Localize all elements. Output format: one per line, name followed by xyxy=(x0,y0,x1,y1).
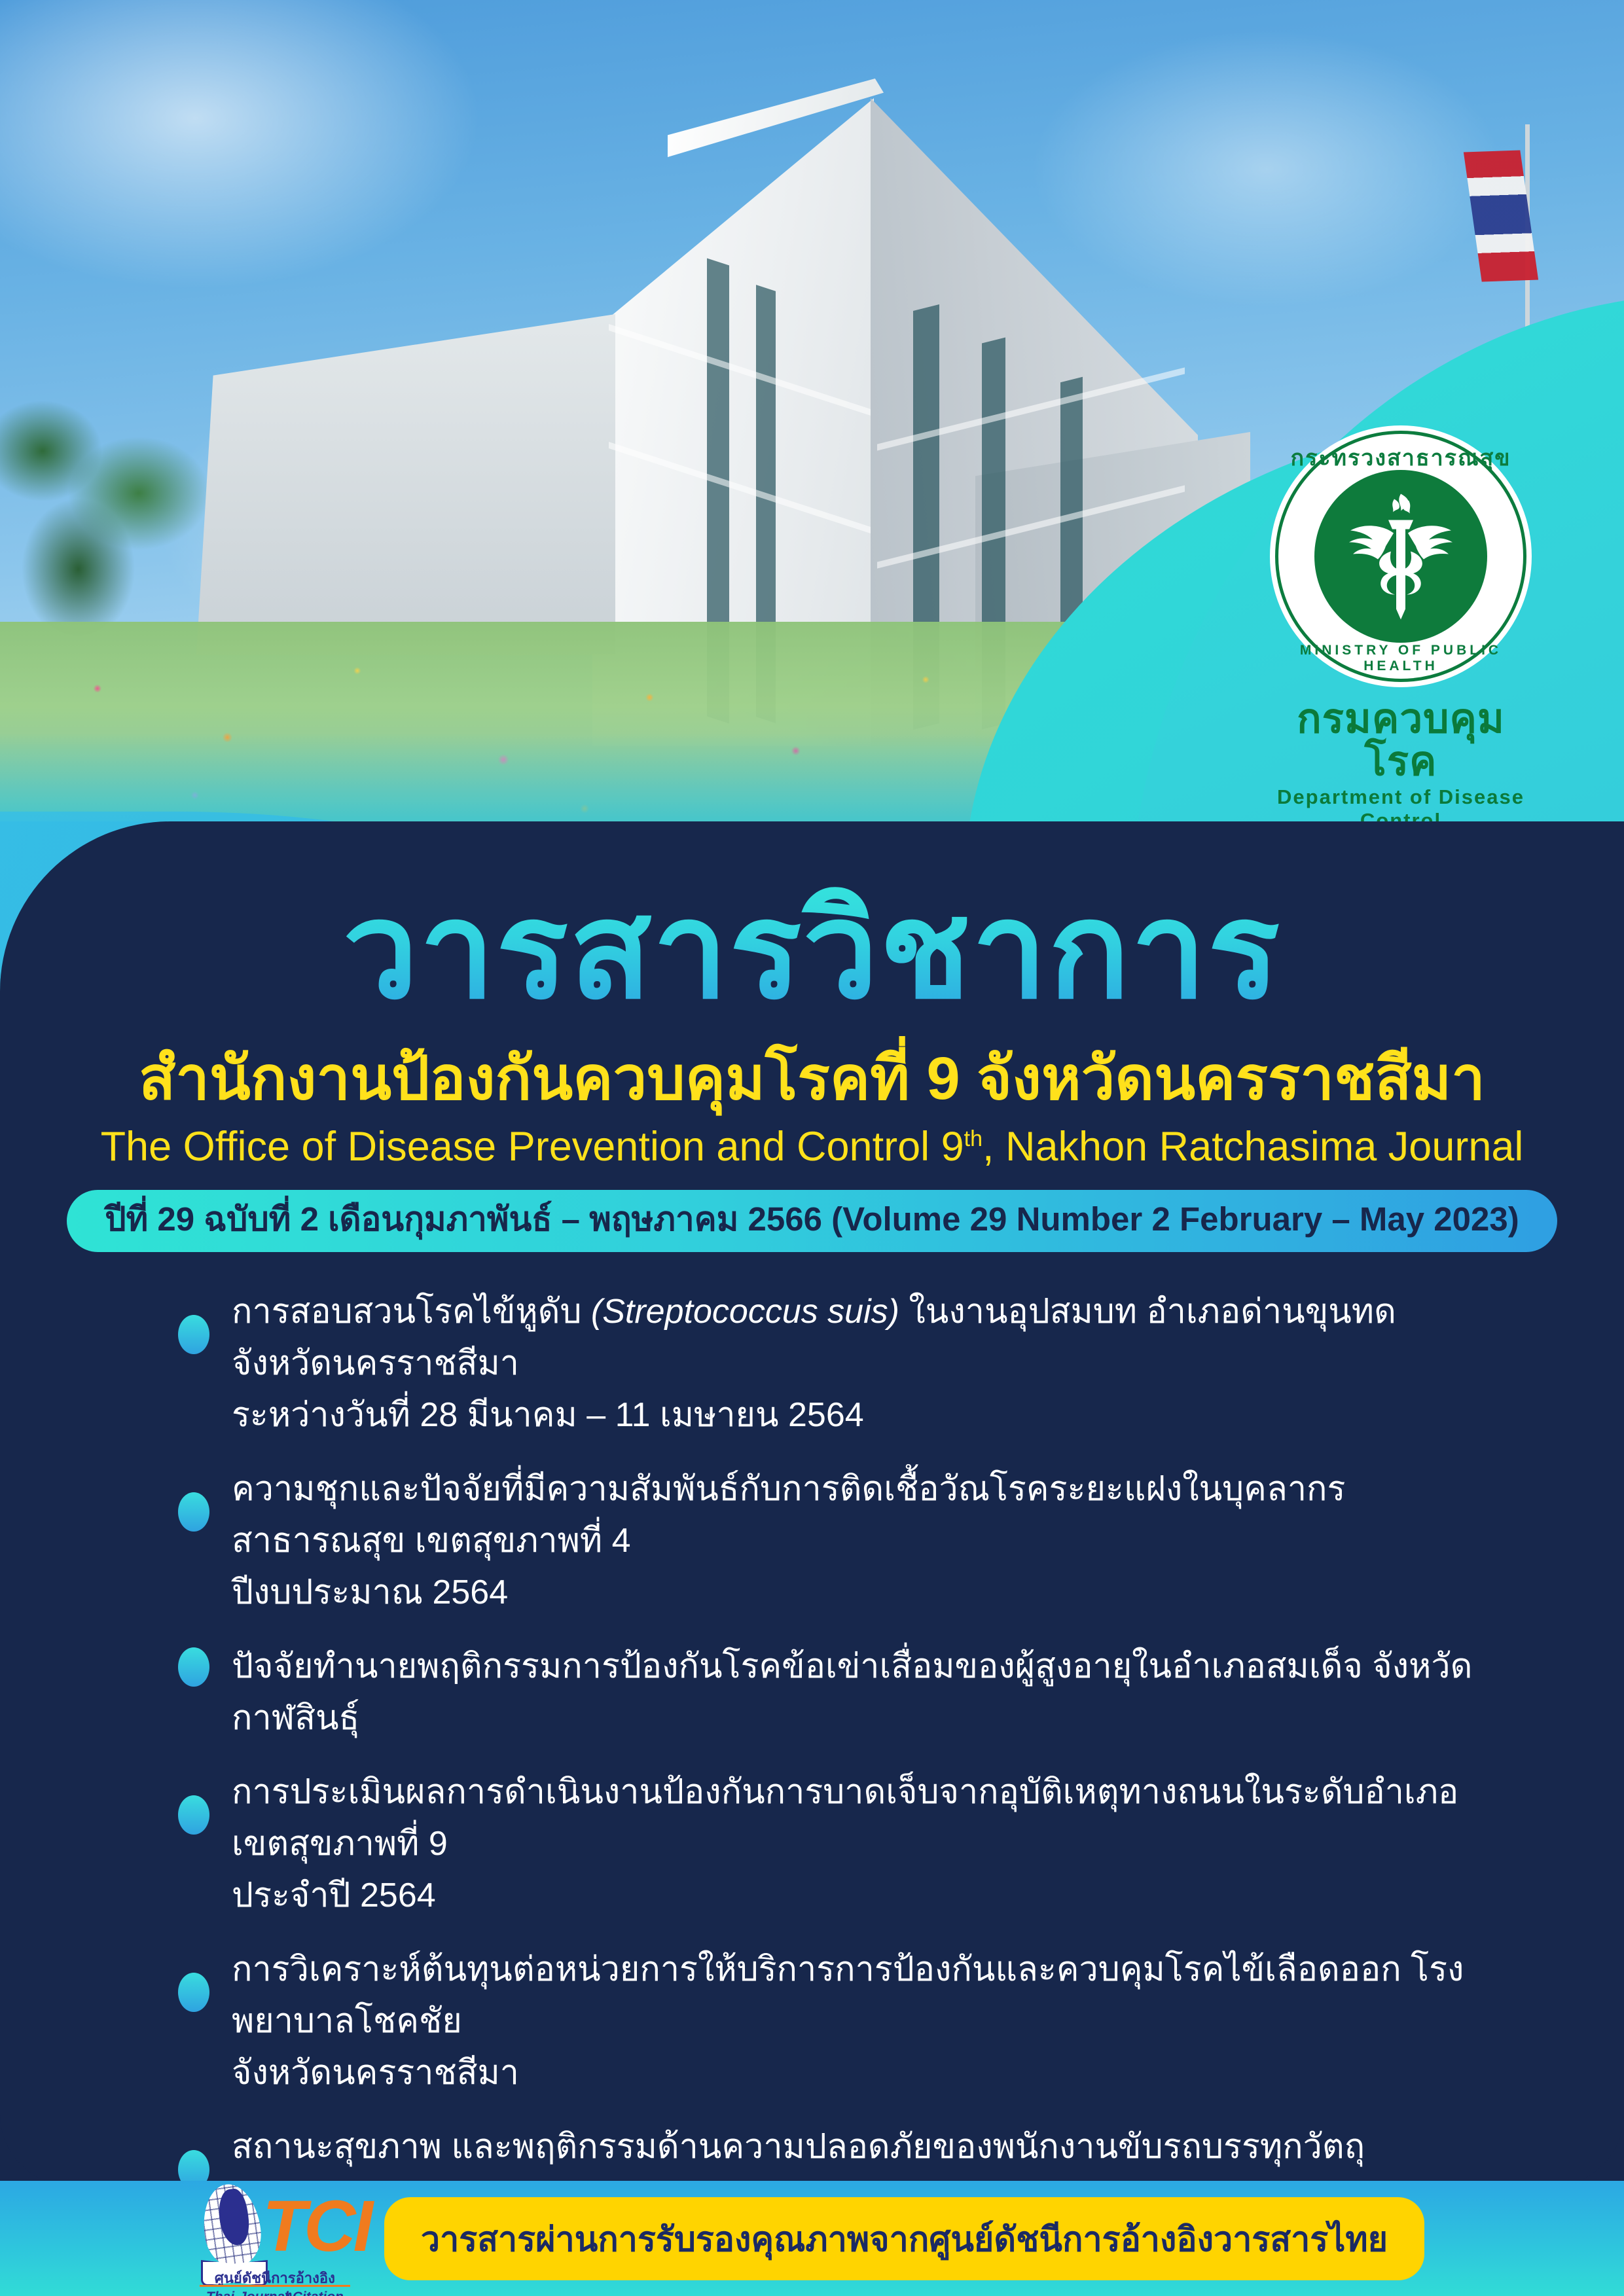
bullet-icon xyxy=(178,1647,209,1687)
journal-subtitle-english: The Office of Disease Prevention and Con… xyxy=(0,1124,1624,1170)
species-name: (Streptococcus suis) xyxy=(591,1293,899,1331)
article-title: การวิเคราะห์ต้นทุนต่อหน่วยการให้บริการกา… xyxy=(232,1944,1487,2099)
journal-cover: กระทรวงสาธารณสุข MINISTRY OF PUBLIC HEAL… xyxy=(0,0,1624,2296)
bullet-icon xyxy=(178,1315,209,1354)
list-item[interactable]: การวิเคราะห์ต้นทุนต่อหน่วยการให้บริการกา… xyxy=(178,1944,1487,2099)
tci-logo: TCI ศูนย์ดัชนีการอ้างอิงวารสารไทย Thai-J… xyxy=(200,2189,350,2287)
list-item[interactable]: การสอบสวนโรคไข้หูดับ (Streptococcus suis… xyxy=(178,1286,1487,1441)
ministry-logo-block: กระทรวงสาธารณสุข MINISTRY OF PUBLIC HEAL… xyxy=(1270,425,1532,833)
table-of-contents: การสอบสวนโรคไข้หูดับ (Streptococcus suis… xyxy=(178,1286,1487,2296)
article-title-line2: ปีงบประมาณ 2564 xyxy=(232,1573,508,1611)
subtitle-en-part1: The Office of Disease Prevention and Con… xyxy=(101,1124,964,1170)
article-title-line1: การวิเคราะห์ต้นทุนต่อหน่วยการให้บริการกา… xyxy=(232,1950,1464,2040)
article-title-line1: ความชุกและปัจจัยที่มีความสัมพันธ์กับการต… xyxy=(232,1470,1345,1560)
subtitle-en-ordinal: th xyxy=(964,1126,983,1151)
article-title-line1: ปัจจัยทำนายพฤติกรรมการป้องกันโรคข้อเข่าเ… xyxy=(232,1647,1472,1737)
article-title-line2: ระหว่างวันที่ 28 มีนาคม – 11 เมษายน 2564 xyxy=(232,1396,864,1434)
bullet-icon xyxy=(178,1492,209,1532)
bullet-icon xyxy=(178,1795,209,1835)
globe-icon xyxy=(198,2181,266,2270)
article-title-line2: จังหวัดนครราชสีมา xyxy=(232,2054,519,2092)
bullet-icon xyxy=(178,1973,209,2012)
article-title: การสอบสวนโรคไข้หูดับ (Streptococcus suis… xyxy=(232,1286,1487,1441)
moph-seal: กระทรวงสาธารณสุข MINISTRY OF PUBLIC HEAL… xyxy=(1270,425,1532,687)
issue-badge: ปีที่ 29 ฉบับที่ 2 เดือนกุมภาพันธ์ – พฤษ… xyxy=(67,1190,1557,1252)
list-item[interactable]: ความชุกและปัจจัยที่มีความสัมพันธ์กับการต… xyxy=(178,1463,1487,1619)
article-title-line1: การประเมินผลการดำเนินงานป้องกันการบาดเจ็… xyxy=(232,1773,1458,1863)
journal-title-thai: วารสารวิชาการ xyxy=(0,880,1624,1021)
article-title: ปัจจัยทำนายพฤติกรรมการป้องกันโรคข้อเข่าเ… xyxy=(232,1641,1487,1744)
caduceus-icon xyxy=(1326,480,1476,634)
list-item[interactable]: การประเมินผลการดำเนินงานป้องกันการบาดเจ็… xyxy=(178,1767,1487,1922)
journal-subtitle-thai: สำนักงานป้องกันควบคุมโรคที่ 9 จังหวัดนคร… xyxy=(0,1046,1624,1112)
issue-badge-wrap: ปีที่ 29 ฉบับที่ 2 เดือนกุมภาพันธ์ – พฤษ… xyxy=(0,1190,1624,1252)
tci-name-english: Thai-Journal Citation Index Centre xyxy=(200,2285,350,2296)
footer-inner: TCI ศูนย์ดัชนีการอ้างอิงวารสารไทย Thai-J… xyxy=(0,2181,1624,2296)
subtitle-en-part2: , Nakhon Ratchasima Journal xyxy=(983,1124,1523,1170)
article-title-part: การสอบสวนโรคไข้หูดับ xyxy=(232,1293,591,1331)
article-title-line2: ประจำปี 2564 xyxy=(232,1876,436,1914)
tci-wordmark: TCI xyxy=(262,2191,370,2263)
list-item[interactable]: ปัจจัยทำนายพฤติกรรมการป้องกันโรคข้อเข่าเ… xyxy=(178,1641,1487,1744)
certification-badge: วารสารผ่านการรับรองคุณภาพจากศูนย์ดัชนีกา… xyxy=(384,2197,1424,2280)
article-title: การประเมินผลการดำเนินงานป้องกันการบาดเจ็… xyxy=(232,1767,1487,1922)
department-name-thai: กรมควบคุมโรค xyxy=(1270,698,1532,783)
article-title: ความชุกและปัจจัยที่มีความสัมพันธ์กับการต… xyxy=(232,1463,1487,1619)
cover-footer: TCI ศูนย์ดัชนีการอ้างอิงวารสารไทย Thai-J… xyxy=(0,2181,1624,2296)
seal-text-english: MINISTRY OF PUBLIC HEALTH xyxy=(1270,643,1532,674)
